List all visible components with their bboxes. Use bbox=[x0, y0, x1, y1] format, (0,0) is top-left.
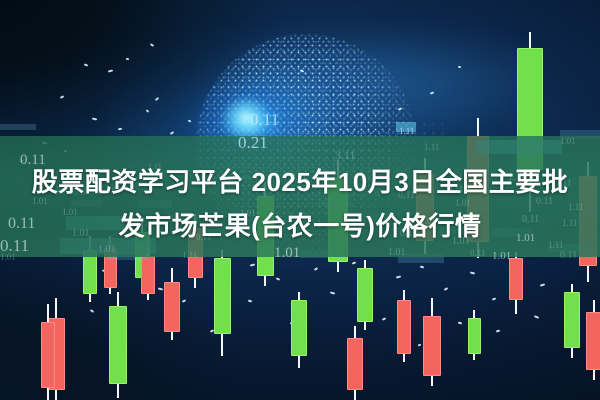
title-line-1: 股票配资学习平台 2025年10月3日全国主要批 bbox=[32, 167, 568, 197]
candlestick-up bbox=[564, 284, 580, 358]
candlestick-down bbox=[41, 304, 55, 400]
candlestick-down bbox=[347, 326, 363, 400]
candlestick-body bbox=[357, 268, 373, 322]
candlestick-body bbox=[141, 256, 155, 294]
candlestick-down bbox=[509, 252, 523, 314]
candlestick-body bbox=[586, 312, 600, 370]
candlestick-up bbox=[109, 292, 127, 398]
candlestick-body bbox=[347, 338, 363, 390]
candlestick-body bbox=[291, 300, 307, 356]
title-line-2: 发市场芒果(台农一号)价格行情 bbox=[0, 204, 600, 248]
candlestick-up bbox=[214, 250, 231, 356]
candlestick-body bbox=[41, 322, 55, 388]
candlestick-body bbox=[468, 318, 481, 354]
candlestick-up bbox=[357, 260, 373, 330]
candlestick-up bbox=[291, 292, 307, 368]
candlestick-up bbox=[468, 310, 481, 360]
candlestick-body bbox=[564, 292, 580, 348]
candlestick-body bbox=[164, 282, 180, 332]
candlestick-body bbox=[109, 306, 127, 384]
candlestick-down bbox=[397, 290, 411, 362]
candlestick-body bbox=[509, 258, 523, 300]
speck-particle bbox=[126, 58, 129, 60]
candlestick-down bbox=[586, 300, 600, 380]
bar-ghost bbox=[0, 124, 36, 130]
candlestick-body bbox=[214, 258, 231, 334]
candlestick-body bbox=[397, 300, 411, 354]
candlestick-body bbox=[423, 316, 441, 376]
banner-image: 0.110.211.113.112.110.111.010.110.111.01… bbox=[0, 0, 600, 400]
candlestick-down bbox=[164, 268, 180, 340]
cyan-glow-core bbox=[222, 96, 270, 140]
bar-ghost bbox=[396, 122, 416, 132]
candlestick-down bbox=[423, 298, 441, 386]
page-title: 股票配资学习平台 2025年10月3日全国主要批 发市场芒果(台农一号)价格行情 bbox=[0, 160, 600, 248]
